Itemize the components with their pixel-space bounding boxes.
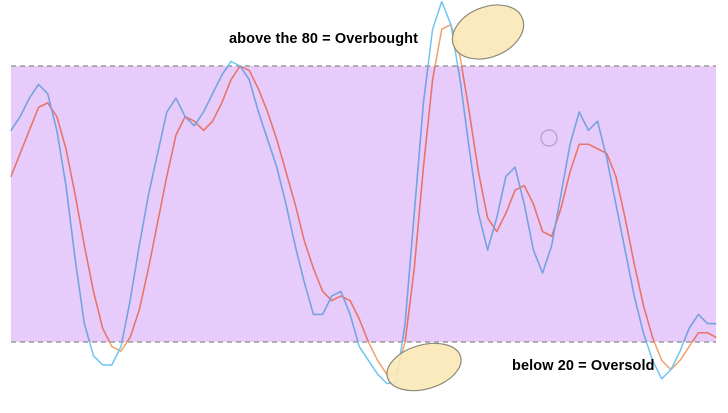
overbought-annotation-label: above the 80 = Overbought	[229, 31, 418, 47]
chart-canvas	[0, 0, 728, 408]
neutral-band-region	[11, 66, 716, 342]
stochastic-oscillator-chart: above the 80 = Overbought below 20 = Ove…	[0, 0, 728, 408]
oversold-annotation-label: below 20 = Oversold	[512, 358, 655, 374]
